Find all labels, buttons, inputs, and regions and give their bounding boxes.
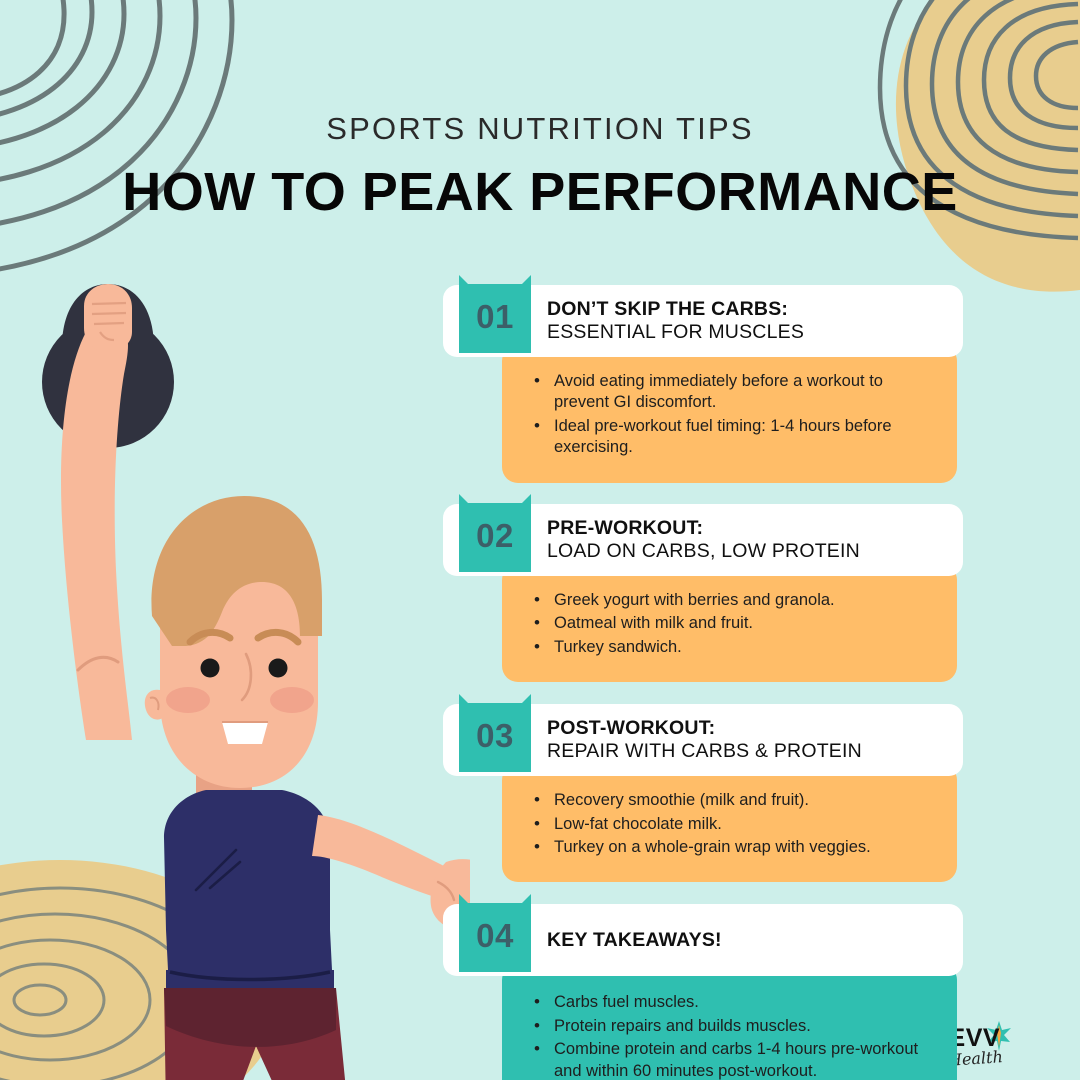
tip-title-line-2: REPAIR WITH CARBS & PROTEIN: [547, 740, 862, 763]
tip-card-title: POST-WORKOUT: REPAIR WITH CARBS & PROTEI…: [547, 717, 876, 763]
tip-bullet-list: Avoid eating immediately before a workou…: [532, 371, 935, 459]
tip-card-title: PRE-WORKOUT: LOAD ON CARBS, LOW PROTEIN: [547, 517, 874, 563]
tip-bullet-list: Carbs fuel muscles. Protein repairs and …: [532, 992, 935, 1080]
list-item: Greek yogurt with berries and granola.: [532, 590, 935, 611]
list-item: Turkey sandwich.: [532, 637, 935, 658]
tip-card-header: 04 KEY TAKEAWAYS!: [443, 904, 963, 976]
tip-title-line-1: DON’T SKIP THE CARBS:: [547, 298, 804, 321]
header: SPORTS NUTRITION TIPS HOW TO PEAK PERFOR…: [0, 112, 1080, 221]
tip-title-line-1: KEY TAKEAWAYS!: [547, 929, 722, 952]
list-item: Ideal pre-workout fuel timing: 1-4 hours…: [532, 416, 935, 459]
tip-card-02: 02 PRE-WORKOUT: LOAD ON CARBS, LOW PROTE…: [443, 504, 963, 682]
list-item: Turkey on a whole-grain wrap with veggie…: [532, 837, 935, 858]
tip-title-line-1: PRE-WORKOUT:: [547, 517, 860, 540]
tips-list: 01 DON’T SKIP THE CARBS: ESSENTIAL FOR M…: [443, 285, 963, 1080]
list-item: Protein repairs and builds muscles.: [532, 1016, 935, 1037]
tip-title-line-2: LOAD ON CARBS, LOW PROTEIN: [547, 540, 860, 563]
step-badge: 04: [459, 894, 531, 972]
tip-title-line-2: ESSENTIAL FOR MUSCLES: [547, 321, 804, 344]
athlete-illustration: [0, 270, 470, 1080]
step-badge: 02: [459, 494, 531, 572]
step-number: 03: [459, 694, 531, 772]
page-title: HOW TO PEAK PERFORMANCE: [0, 164, 1080, 221]
list-item: Low-fat chocolate milk.: [532, 814, 935, 835]
head: [145, 496, 322, 830]
tip-card-header: 02 PRE-WORKOUT: LOAD ON CARBS, LOW PROTE…: [443, 504, 963, 576]
tip-card-header: 01 DON’T SKIP THE CARBS: ESSENTIAL FOR M…: [443, 285, 963, 357]
list-item: Carbs fuel muscles.: [532, 992, 935, 1013]
list-item: Recovery smoothie (milk and fruit).: [532, 790, 935, 811]
tip-card-header: 03 POST-WORKOUT: REPAIR WITH CARBS & PRO…: [443, 704, 963, 776]
tip-card-body: Avoid eating immediately before a workou…: [502, 345, 957, 483]
step-number: 02: [459, 494, 531, 572]
tip-card-body: Recovery smoothie (milk and fruit). Low-…: [502, 764, 957, 882]
tank-top: [164, 790, 334, 990]
list-item: Avoid eating immediately before a workou…: [532, 371, 935, 414]
step-number: 04: [459, 894, 531, 972]
tip-card-title: DON’T SKIP THE CARBS: ESSENTIAL FOR MUSC…: [547, 298, 818, 344]
tip-bullet-list: Recovery smoothie (milk and fruit). Low-…: [532, 790, 935, 858]
tip-title-line-1: POST-WORKOUT:: [547, 717, 862, 740]
tip-card-body: Carbs fuel muscles. Protein repairs and …: [502, 964, 957, 1080]
step-number: 01: [459, 275, 531, 353]
tip-card-title: KEY TAKEAWAYS!: [547, 929, 736, 952]
tip-card-03: 03 POST-WORKOUT: REPAIR WITH CARBS & PRO…: [443, 704, 963, 882]
infographic-canvas: SPORTS NUTRITION TIPS HOW TO PEAK PERFOR…: [0, 0, 1080, 1080]
step-badge: 03: [459, 694, 531, 772]
tip-card-04: 04 KEY TAKEAWAYS! Carbs fuel muscles. Pr…: [443, 904, 963, 1080]
list-item: Combine protein and carbs 1-4 hours pre-…: [532, 1039, 935, 1080]
list-item: Oatmeal with milk and fruit.: [532, 613, 935, 634]
tip-bullet-list: Greek yogurt with berries and granola. O…: [532, 590, 935, 658]
step-badge: 01: [459, 275, 531, 353]
tip-card-body: Greek yogurt with berries and granola. O…: [502, 564, 957, 682]
eyebrow-text: SPORTS NUTRITION TIPS: [0, 112, 1080, 146]
tip-card-01: 01 DON’T SKIP THE CARBS: ESSENTIAL FOR M…: [443, 285, 963, 483]
